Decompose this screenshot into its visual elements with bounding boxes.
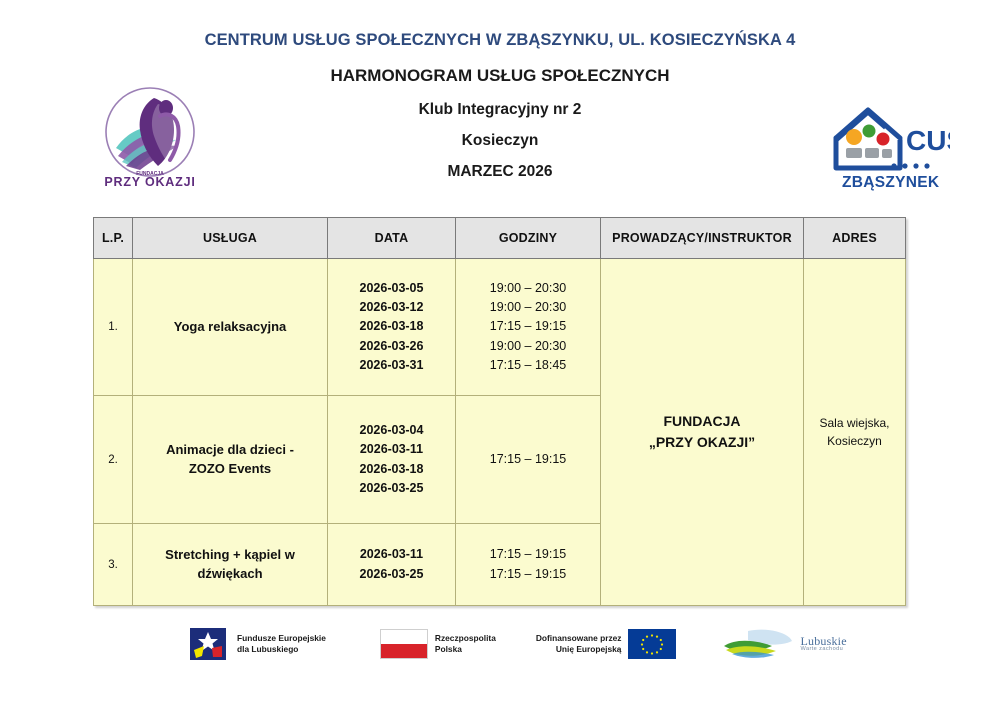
lubuskie-logo: Lubuskie Warte zachodu xyxy=(722,626,846,662)
fundusze-europejskie-icon xyxy=(188,624,230,664)
poland-flag-icon xyxy=(380,629,428,659)
column-header-lp: L.P. xyxy=(94,218,133,259)
row-number: 1. xyxy=(94,259,133,396)
column-header-usluga: USŁUGA xyxy=(133,218,328,259)
fundusze-europejskie-logo: Fundusze Europejskie dla Lubuskiego xyxy=(188,624,326,664)
date-entry: 2026-03-11 xyxy=(328,440,455,459)
instructor-line-2: „PRZY OKAZJI” xyxy=(601,432,803,453)
column-header-adres: ADRES xyxy=(804,218,906,259)
column-header-godziny: GODZINY xyxy=(456,218,601,259)
fundusze-europejskie-text: Fundusze Europejskie dla Lubuskiego xyxy=(237,633,326,656)
service-name: Stretching + kąpiel w dźwiękach xyxy=(133,524,328,606)
address-cell: Sala wiejska, Kosieczyn xyxy=(804,259,906,606)
eu-stars-icon xyxy=(628,629,676,659)
lubuskie-text: Lubuskie Warte zachodu xyxy=(800,635,846,653)
service-name-line-2: dźwiękach xyxy=(133,565,327,584)
rzeczpospolita-polska-logo: Rzeczpospolita Polska xyxy=(380,629,496,659)
date-entry: 2026-03-18 xyxy=(328,317,455,336)
hours-entry: 19:00 – 20:30 xyxy=(456,279,600,298)
date-entry: 2026-03-11 xyxy=(328,545,455,564)
date-entry: 2026-03-25 xyxy=(328,565,455,584)
date-entry: 2026-03-04 xyxy=(328,421,455,440)
eu-line-1: Dofinansowane przez xyxy=(536,633,622,644)
cus-acronym: CUS xyxy=(906,125,950,156)
address-line-2: Kosieczyn xyxy=(804,432,905,450)
eu-flag-icon xyxy=(628,629,676,659)
eu-funding-text: Dofinansowane przez Unię Europejską xyxy=(536,633,622,656)
address-line-1: Sala wiejska, xyxy=(804,414,905,432)
hours-entry: 17:15 – 19:15 xyxy=(456,317,600,336)
service-name: Yoga relaksacyjna xyxy=(133,259,328,396)
row-number: 2. xyxy=(94,396,133,524)
instructor-line-1: FUNDACJA xyxy=(601,411,803,432)
cus-logo-graphic: CUS ZBĄSZYNEK xyxy=(828,104,950,192)
european-union-logo: Dofinansowane przez Unię Europejską xyxy=(536,629,677,659)
hours-entry: 19:00 – 20:30 xyxy=(456,337,600,356)
lubuskie-subtitle: Warte zachodu xyxy=(800,647,846,653)
fundacja-logo-graphic: FUNDACJA PRZY OKAZJI xyxy=(96,82,204,194)
date-entry: 2026-03-26 xyxy=(328,337,455,356)
date-entry: 2026-03-25 xyxy=(328,479,455,498)
service-hours: 17:15 – 19:15 17:15 – 19:15 xyxy=(456,524,601,606)
poland-line-1: Rzeczpospolita xyxy=(435,633,496,644)
footer-logo-strip: Fundusze Europejskie dla Lubuskiego Rzec… xyxy=(0,616,1000,672)
column-header-data: DATA xyxy=(328,218,456,259)
hours-entry: 17:15 – 19:15 xyxy=(456,565,600,584)
column-header-prowadzacy: PROWADZĄCY/INSTRUKTOR xyxy=(601,218,804,259)
hours-entry: 17:15 – 19:15 xyxy=(456,450,600,469)
fundusze-line-1: Fundusze Europejskie xyxy=(237,633,326,644)
lubuskie-icon xyxy=(722,626,794,662)
schedule-table: L.P. USŁUGA DATA GODZINY PROWADZĄCY/INST… xyxy=(93,217,906,606)
rzeczpospolita-text: Rzeczpospolita Polska xyxy=(435,633,496,656)
cus-town-name: ZBĄSZYNEK xyxy=(842,174,940,191)
document-page: CENTRUM USŁUG SPOŁECZNYCH W ZBĄSZYNKU, U… xyxy=(0,0,1000,706)
service-dates: 2026-03-05 2026-03-12 2026-03-18 2026-03… xyxy=(328,259,456,396)
fundusze-line-2: dla Lubuskiego xyxy=(237,644,326,655)
cus-zbaszynek-logo: CUS ZBĄSZYNEK xyxy=(828,104,950,192)
date-entry: 2026-03-18 xyxy=(328,460,455,479)
service-dates: 2026-03-11 2026-03-25 xyxy=(328,524,456,606)
hours-entry: 17:15 – 19:15 xyxy=(456,545,600,564)
service-name-line-1: Stretching + kąpiel w xyxy=(133,546,327,565)
row-number: 3. xyxy=(94,524,133,606)
service-name-line-1: Animacje dla dzieci - xyxy=(133,441,327,460)
service-name-line-2: ZOZO Events xyxy=(133,460,327,479)
fundacja-przy-okazji-logo: FUNDACJA PRZY OKAZJI xyxy=(96,82,204,194)
instructor-cell: FUNDACJA „PRZY OKAZJI” xyxy=(601,259,804,606)
date-entry: 2026-03-12 xyxy=(328,298,455,317)
hours-entry: 19:00 – 20:30 xyxy=(456,298,600,317)
table-row: 1. Yoga relaksacyjna 2026-03-05 2026-03-… xyxy=(94,259,906,396)
service-hours: 19:00 – 20:30 19:00 – 20:30 17:15 – 19:1… xyxy=(456,259,601,396)
service-dates: 2026-03-04 2026-03-11 2026-03-18 2026-03… xyxy=(328,396,456,524)
date-entry: 2026-03-31 xyxy=(328,356,455,375)
service-hours: 17:15 – 19:15 xyxy=(456,396,601,524)
table-header-row: L.P. USŁUGA DATA GODZINY PROWADZĄCY/INST… xyxy=(94,218,906,259)
organization-title: CENTRUM USŁUG SPOŁECZNYCH W ZBĄSZYNKU, U… xyxy=(0,30,1000,51)
fundacja-logo-maintext: PRZY OKAZJI xyxy=(104,175,195,189)
hours-entry: 17:15 – 18:45 xyxy=(456,356,600,375)
date-entry: 2026-03-05 xyxy=(328,279,455,298)
poland-line-2: Polska xyxy=(435,644,496,655)
eu-line-2: Unię Europejską xyxy=(536,644,622,655)
service-name: Animacje dla dzieci - ZOZO Events xyxy=(133,396,328,524)
